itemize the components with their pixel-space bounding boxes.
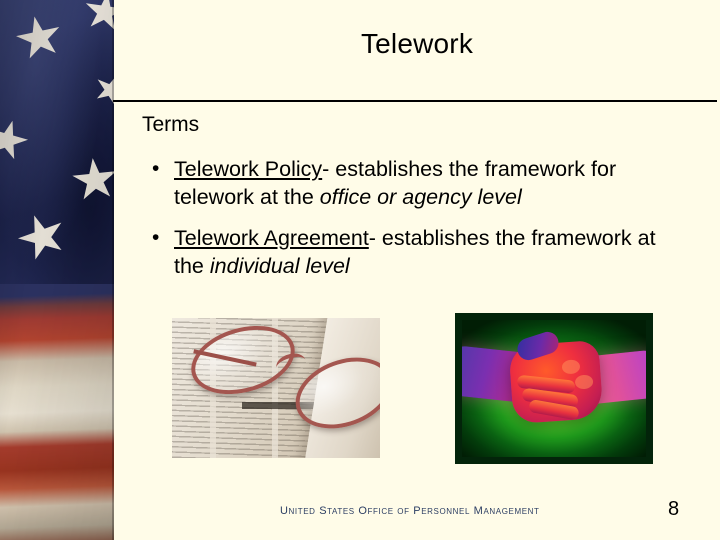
bullet-text: Telework Policy- establishes the framewo… (174, 155, 672, 211)
flag-shading (0, 0, 114, 540)
terms-heading: Terms (142, 113, 199, 137)
page-title: Telework (114, 28, 720, 60)
flag-decoration (0, 0, 114, 540)
bullet-item-telework-policy: • Telework Policy- establishes the frame… (152, 155, 672, 211)
slide-canvas: Telework Terms • Telework Policy- establ… (0, 0, 720, 540)
bullet-term: Telework Policy (174, 157, 322, 181)
bullet-emphasis: individual level (210, 254, 350, 278)
bullet-item-telework-agreement: • Telework Agreement- establishes the fr… (152, 224, 672, 280)
handshake-frame (455, 313, 653, 464)
image-glasses-on-book (172, 318, 380, 458)
bullet-text: Telework Agreement- establishes the fram… (174, 224, 672, 280)
bullet-marker-icon: • (152, 224, 174, 252)
flag-edge (112, 0, 114, 540)
image-handshake (455, 313, 653, 464)
footer-agency-logo: United States Office of Personnel Manage… (280, 505, 540, 517)
bullet-emphasis: office or agency level (320, 185, 522, 209)
page-number: 8 (668, 498, 679, 521)
eyeglasses-temple (193, 349, 256, 366)
bullet-term: Telework Agreement (174, 226, 369, 250)
bullet-marker-icon: • (152, 155, 174, 183)
title-divider (113, 100, 717, 102)
